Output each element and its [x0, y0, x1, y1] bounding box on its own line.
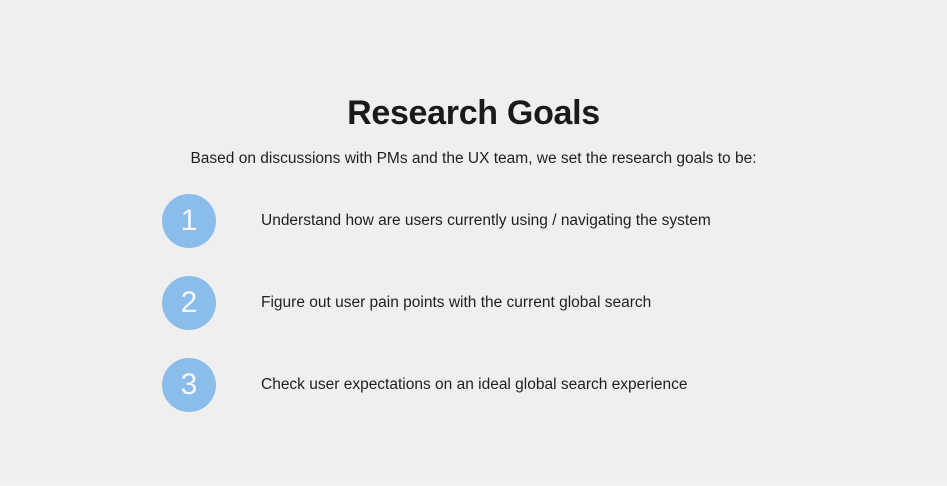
slide-subtitle: Based on discussions with PMs and the UX…	[0, 148, 947, 170]
slide-canvas: Research Goals Based on discussions with…	[0, 0, 947, 486]
goal-description: Check user expectations on an ideal glob…	[261, 374, 688, 396]
page-title: Research Goals	[0, 91, 947, 135]
goal-number-badge: 1	[162, 194, 216, 248]
list-item: 2 Figure out user pain points with the c…	[162, 276, 711, 330]
list-item: 1 Understand how are users currently usi…	[162, 194, 711, 248]
goal-number-label: 2	[181, 288, 198, 318]
goal-number-badge: 2	[162, 276, 216, 330]
goal-number-label: 1	[181, 206, 198, 236]
goal-description: Understand how are users currently using…	[261, 210, 711, 232]
research-goals-list: 1 Understand how are users currently usi…	[162, 194, 711, 412]
goal-number-badge: 3	[162, 358, 216, 412]
goal-number-label: 3	[181, 370, 198, 400]
goal-description: Figure out user pain points with the cur…	[261, 292, 651, 314]
list-item: 3 Check user expectations on an ideal gl…	[162, 358, 711, 412]
